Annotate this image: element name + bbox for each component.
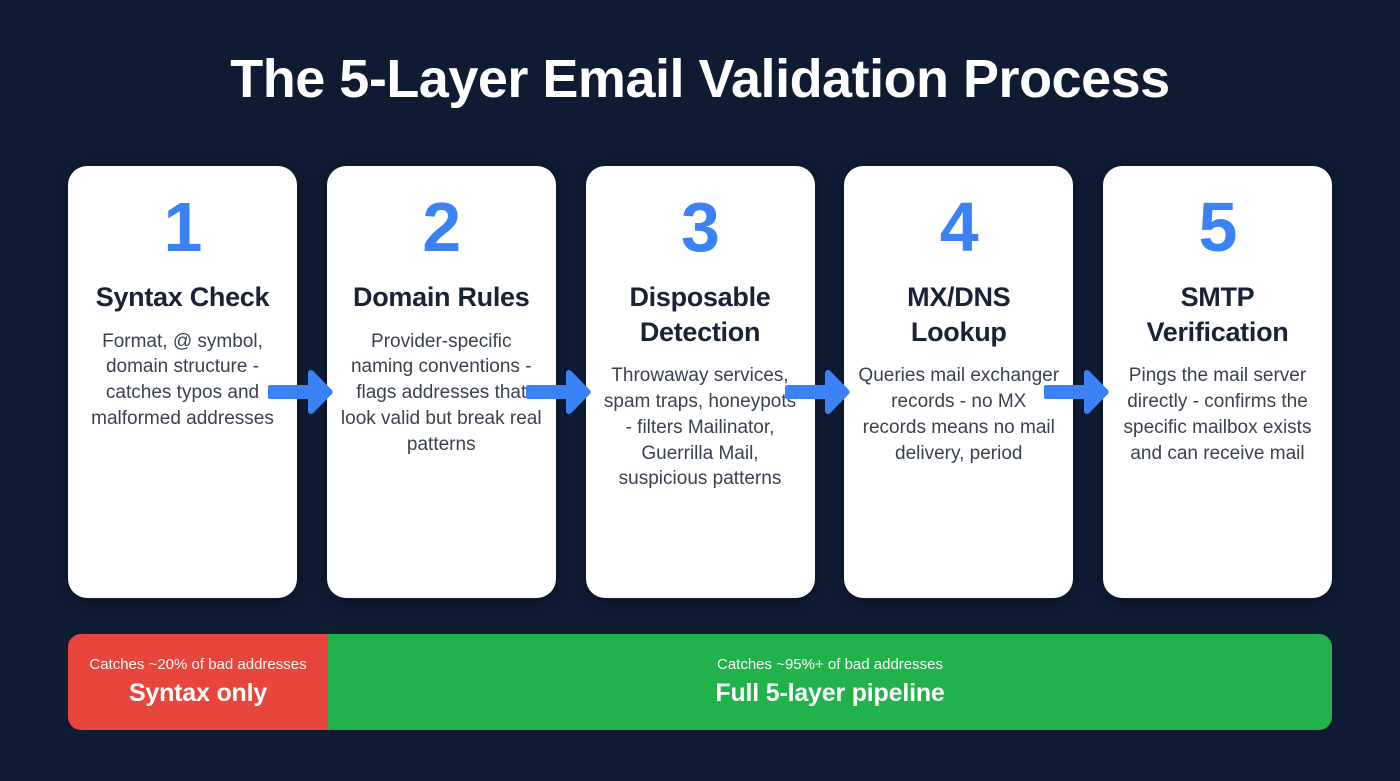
step-card-3[interactable]: 3 Disposable Detection Throwaway service… [586,166,815,598]
step-number-3: 3 [681,192,719,262]
step-number-4: 4 [940,192,978,262]
step-number-2: 2 [422,192,460,262]
page-title: The 5-Layer Email Validation Process [0,48,1400,110]
syntax-only-sublabel: Catches ~20% of bad addresses [89,656,306,674]
step-heading-4: MX/DNS Lookup [858,280,1059,349]
syntax-only-label: Syntax only [129,678,267,708]
step-heading-1: Syntax Check [96,280,269,315]
step-number-5: 5 [1199,192,1237,262]
full-pipeline-label: Full 5-layer pipeline [715,678,944,708]
step-description-2: Provider-specific naming conventions - f… [341,329,542,458]
step-card-4[interactable]: 4 MX/DNS Lookup Queries mail exchanger r… [844,166,1073,598]
step-heading-2: Domain Rules [353,280,529,315]
infographic-root: The 5-Layer Email Validation Process 1 S… [0,0,1400,781]
steps-row: 1 Syntax Check Format, @ symbol, domain … [68,166,1332,598]
comparison-bar: Catches ~20% of bad addresses Syntax onl… [68,634,1332,730]
step-card-2[interactable]: 2 Domain Rules Provider-specific naming … [327,166,556,598]
step-heading-5: SMTP Verification [1117,280,1318,349]
step-description-4: Queries mail exchanger records - no MX r… [858,363,1059,466]
step-card-1[interactable]: 1 Syntax Check Format, @ symbol, domain … [68,166,297,598]
step-heading-3: Disposable Detection [600,280,801,349]
step-number-1: 1 [164,192,202,262]
step-description-5: Pings the mail server directly - confirm… [1117,363,1318,466]
step-description-1: Format, @ symbol, domain structure - cat… [82,329,283,432]
step-card-5[interactable]: 5 SMTP Verification Pings the mail serve… [1103,166,1332,598]
comparison-segment-full-pipeline: Catches ~95%+ of bad addresses Full 5-la… [328,634,1332,730]
comparison-segment-syntax-only: Catches ~20% of bad addresses Syntax onl… [68,634,328,730]
step-description-3: Throwaway services, spam traps, honeypot… [600,363,801,492]
full-pipeline-sublabel: Catches ~95%+ of bad addresses [717,656,943,674]
